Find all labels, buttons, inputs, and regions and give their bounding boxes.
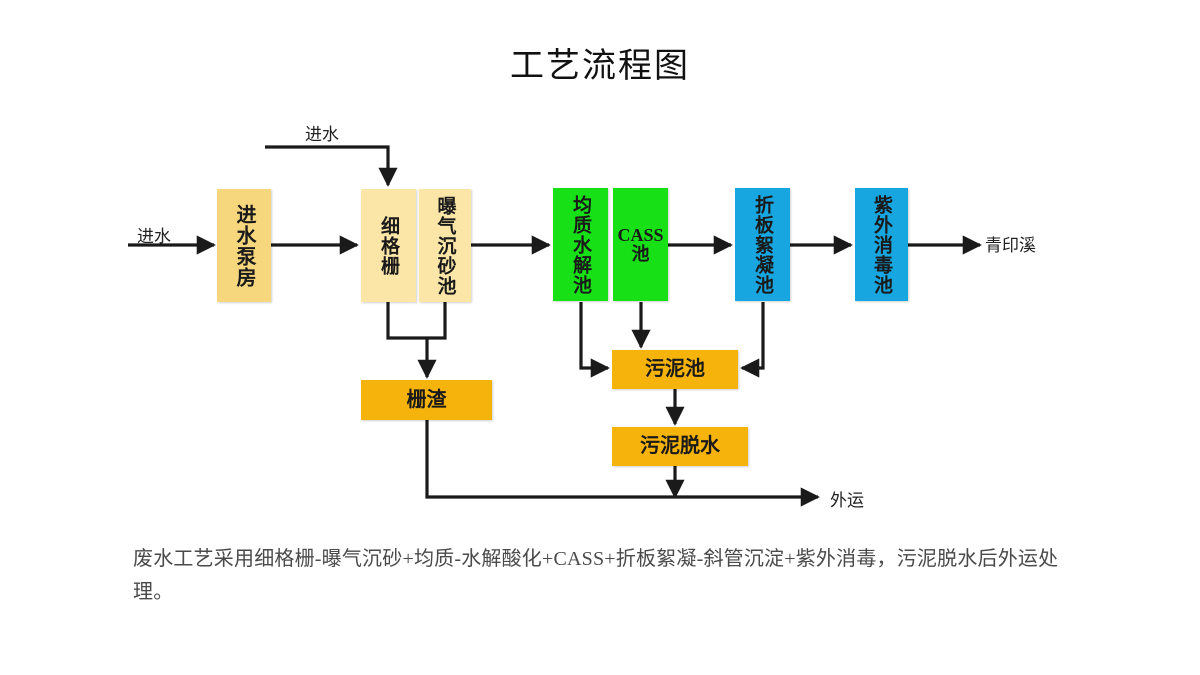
node-label: 折板絮凝池 bbox=[753, 195, 772, 295]
node-fine-screen[interactable]: 细格栅 bbox=[361, 189, 416, 302]
node-label: 污泥脱水 bbox=[640, 436, 720, 456]
node-cass-tank[interactable]: CASS池 bbox=[613, 188, 668, 301]
node-sludge-tank[interactable]: 污泥池 bbox=[612, 350, 738, 389]
node-baffled-flocculation-tank[interactable]: 折板絮凝池 bbox=[735, 188, 790, 301]
edge-label-effluent-stream: 青印溪 bbox=[985, 231, 1036, 256]
node-grate-residue[interactable]: 栅渣 bbox=[361, 380, 492, 420]
edge-label-influent-top: 进水 bbox=[305, 120, 339, 145]
node-label: 污泥池 bbox=[645, 359, 705, 379]
node-label: 紫外消毒池 bbox=[872, 195, 891, 295]
process-description-caption: 废水工艺采用细格栅-曝气沉砂+均质-水解酸化+CASS+折板絮凝-斜管沉淀+紫外… bbox=[133, 543, 1093, 609]
node-label: CASS池 bbox=[613, 226, 668, 263]
edge-influent-top-to-screen bbox=[265, 147, 388, 185]
node-label: 均质水解池 bbox=[571, 195, 590, 295]
node-label: 细格栅 bbox=[379, 216, 398, 276]
node-sludge-dewatering[interactable]: 污泥脱水 bbox=[612, 427, 748, 466]
edge-floc-to-sludge bbox=[742, 302, 763, 368]
node-uv-disinfection-tank[interactable]: 紫外消毒池 bbox=[855, 188, 908, 301]
node-label: 曝气沉砂池 bbox=[436, 196, 455, 296]
edge-grit-drop bbox=[427, 302, 445, 338]
node-homogenization-hydrolysis-tank[interactable]: 均质水解池 bbox=[553, 188, 608, 301]
node-aerated-grit-chamber[interactable]: 曝气沉砂池 bbox=[419, 189, 471, 302]
node-influent-pump-house[interactable]: 进水泵房 bbox=[217, 189, 271, 302]
edge-label-influent-left: 进水 bbox=[137, 222, 171, 247]
node-label: 栅渣 bbox=[407, 390, 447, 410]
edge-screen-drop bbox=[388, 302, 427, 338]
node-label: 进水泵房 bbox=[234, 204, 254, 288]
edge-label-haul-away: 外运 bbox=[830, 486, 864, 511]
edge-homogenize-to-sludge bbox=[581, 302, 608, 368]
